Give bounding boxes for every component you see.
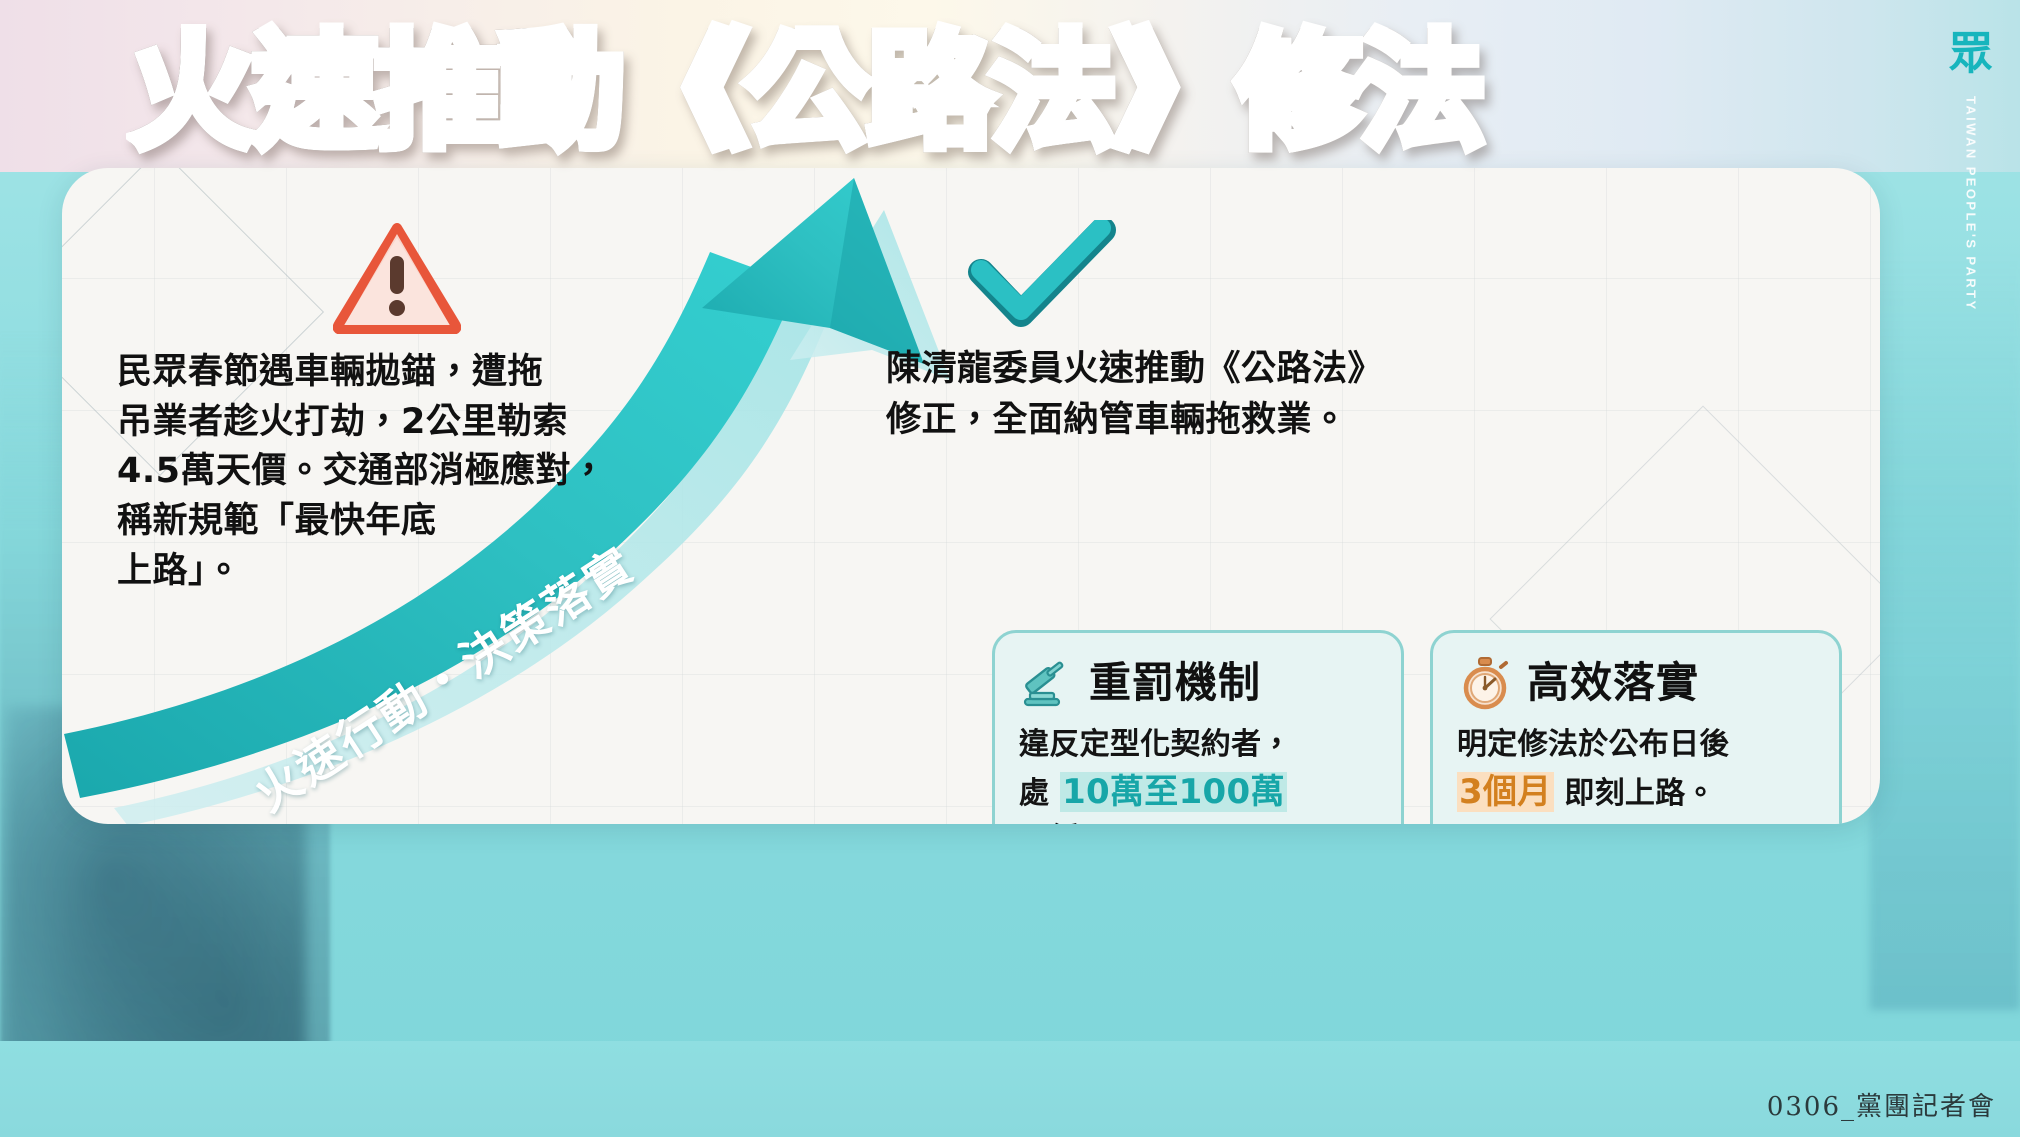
feature-body-line: 3個月 即刻上路。 xyxy=(1457,767,1817,817)
background-photo-right xyxy=(1870,250,2020,1010)
feature-card-body: 違反定型化契約者， 處 10萬至100萬 罰鍰。 xyxy=(1019,723,1379,824)
check-mark-icon xyxy=(967,220,1117,328)
feature-body-suffix: 即刻上路。 xyxy=(1564,776,1716,811)
right-paragraph-line: 修正，全面納管車輛拖救業。 xyxy=(886,395,1822,446)
feature-card-header: 高效落實 xyxy=(1457,655,1817,711)
feature-card-body: 明定修法於公布日後 3個月 即刻上路。 xyxy=(1457,723,1817,818)
feature-card-title: 重罰機制 xyxy=(1089,662,1261,704)
timeline-duration-highlight: 3個月 xyxy=(1457,772,1554,812)
feature-card-title: 高效落實 xyxy=(1527,662,1699,704)
page-title: 火速推動《公路法》修法 xyxy=(130,28,1483,158)
feature-body-line: 罰鍰。 xyxy=(1019,818,1379,824)
feature-card-penalty: 重罰機制 違反定型化契約者， 處 10萬至100萬 罰鍰。 xyxy=(992,630,1404,824)
gavel-icon xyxy=(1019,655,1075,711)
left-paragraph-line: 4.5萬天價。交通部消極應對， xyxy=(117,447,677,497)
infographic-canvas: 眾 TAIWAN PEOPLE'S PARTY xyxy=(0,0,2020,1137)
feature-card-row: 重罰機制 違反定型化契約者， 處 10萬至100萬 罰鍰。 xyxy=(992,630,1842,824)
feature-body-line: 違反定型化契約者， xyxy=(1019,723,1379,767)
check-icon-container xyxy=(922,220,1162,328)
right-paragraph-line: 陳清龍委員火速推動《公路法》 xyxy=(886,344,1822,395)
footer-band xyxy=(0,1041,2020,1137)
stopwatch-icon xyxy=(1457,655,1513,711)
footer-caption: 0306_黨團記者會 xyxy=(1767,1086,1996,1123)
content-card: 火速行動・決策落實 民眾春節遇車輛拋錨，遭拖 吊業者趁火打劫，2公里勒索 4.5… xyxy=(62,168,1880,824)
tpp-logo-icon: 眾 xyxy=(1944,28,1998,80)
warning-triangle-icon xyxy=(333,220,461,334)
warning-icon-container xyxy=(117,220,677,334)
feature-body-prefix: 處 xyxy=(1019,776,1049,811)
feature-body-line: 明定修法於公布日後 xyxy=(1457,723,1817,767)
feature-body-line: 處 10萬至100萬 xyxy=(1019,767,1379,817)
feature-card-timeline: 高效落實 明定修法於公布日後 3個月 即刻上路。 xyxy=(1430,630,1842,824)
left-paragraph-line: 民眾春節遇車輛拋錨，遭拖 xyxy=(117,348,677,398)
penalty-amount-highlight: 10萬至100萬 xyxy=(1060,772,1287,812)
feature-card-header: 重罰機制 xyxy=(1019,655,1379,711)
right-paragraph: 陳清龍委員火速推動《公路法》 修正，全面納管車輛拖救業。 xyxy=(886,344,1822,446)
left-paragraph-line: 吊業者趁火打劫，2公里勒索 xyxy=(117,398,677,448)
right-column: 陳清龍委員火速推動《公路法》 修正，全面納管車輛拖救業。 xyxy=(882,220,1822,446)
brand-party-name: TAIWAN PEOPLE'S PARTY xyxy=(1964,96,1979,312)
brand-logo: 眾 TAIWAN PEOPLE'S PARTY xyxy=(1940,28,2002,312)
